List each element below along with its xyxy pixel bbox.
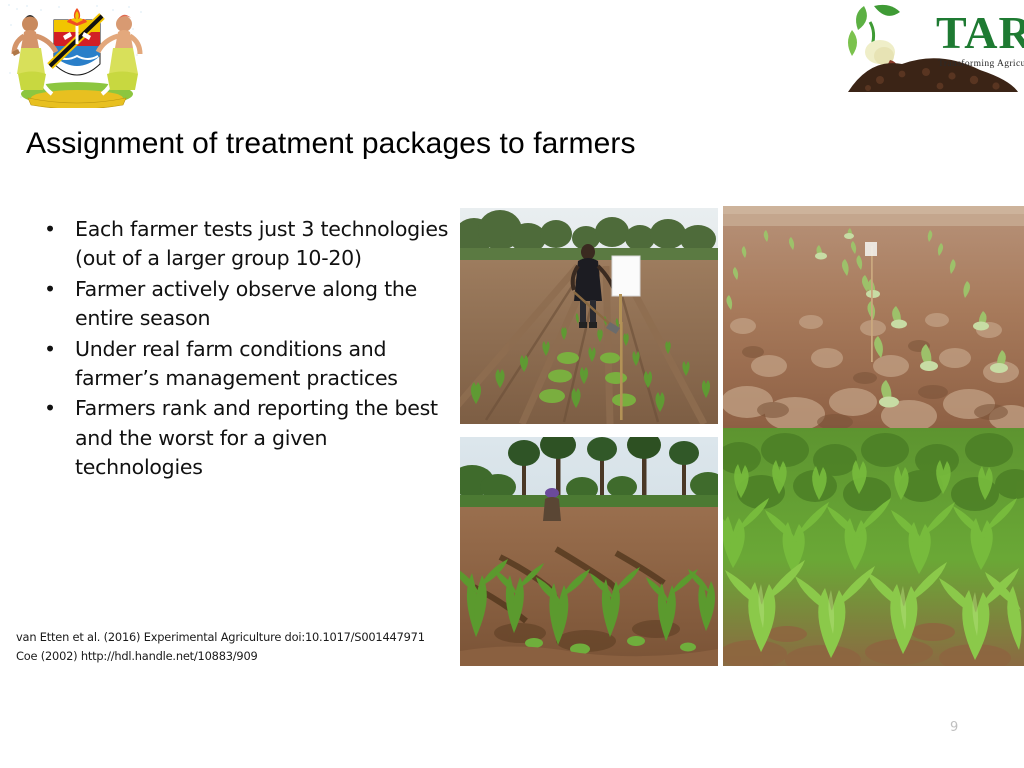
citation-line-2: Coe (2002) http://hdl.handle.net/10883/9…: [16, 647, 466, 666]
photo-grid: [460, 206, 1024, 666]
tanzania-coat-of-arms-icon: [6, 2, 148, 108]
photo-maize-plot-with-trees: [460, 437, 718, 666]
photo-farmer-with-sign: [460, 208, 718, 424]
list-item-text: Each farmer tests just 3 technologies (o…: [75, 217, 448, 270]
photo-seedlings-in-tilled-soil: [723, 206, 1024, 428]
photo-lush-maize-field: [723, 428, 1024, 666]
tari-tagline-text: Transforming Agriculture: [938, 58, 1024, 69]
bullet-marker-icon: •: [44, 215, 56, 244]
page-number: 9: [950, 720, 980, 735]
citation-line-1: van Etten et al. (2016) Experimental Agr…: [16, 628, 466, 647]
list-item: • Farmer actively observe along the enti…: [34, 275, 452, 334]
list-item: • Farmers rank and reporting the best an…: [34, 394, 452, 482]
bullet-marker-icon: •: [44, 335, 56, 364]
list-item: • Under real farm conditions and farmer’…: [34, 335, 452, 394]
tari-logo-icon: TARI Transforming Agriculture: [840, 0, 1024, 100]
list-item-text: Under real farm conditions and farmer’s …: [75, 337, 398, 390]
list-item-text: Farmers rank and reporting the best and …: [75, 396, 438, 479]
presentation-slide: TARI Transforming Agriculture Assignment…: [0, 0, 1024, 768]
list-item-text: Farmer actively observe along the entire…: [75, 277, 417, 330]
page-title: Assignment of treatment packages to farm…: [26, 126, 846, 162]
tari-wordmark-text: TARI: [936, 7, 1024, 58]
bullet-marker-icon: •: [44, 394, 56, 423]
list-item: • Each farmer tests just 3 technologies …: [34, 215, 452, 274]
bullet-list: • Each farmer tests just 3 technologies …: [34, 215, 452, 484]
citation-block: van Etten et al. (2016) Experimental Agr…: [16, 628, 466, 666]
bullet-marker-icon: •: [44, 275, 56, 304]
